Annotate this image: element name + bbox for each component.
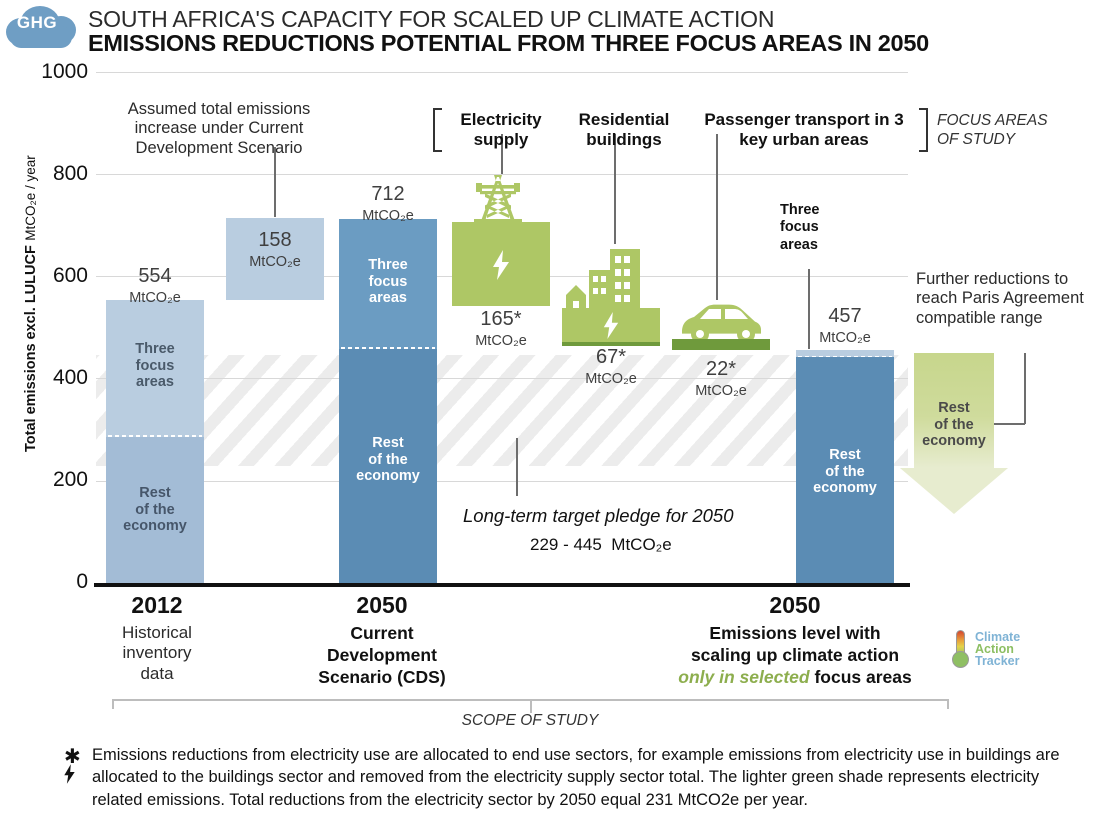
category-2050-action-line2: scaling up climate action: [691, 645, 899, 665]
pledge-range-band: [96, 355, 908, 466]
y-axis-label: Total emissions excl. LULUCF MtCO₂e / ye…: [22, 155, 40, 452]
bar-2050-action-unit: MtCO₂e: [796, 330, 894, 346]
further-reductions-annotation: Further reductions to reach Paris Agreem…: [916, 270, 1106, 328]
ghg-badge-label: GHG: [0, 13, 74, 33]
scope-bracket-left: [112, 699, 114, 709]
bar-2012-value: 554: [106, 265, 204, 288]
logo-line-tracker: Tracker: [975, 654, 1019, 668]
bar-2012-focus-label: Threefocusareas: [106, 341, 204, 391]
page-title: EMISSIONS REDUCTIONS POTENTIAL FROM THRE…: [88, 30, 929, 57]
car-icon: [676, 300, 766, 344]
y-tick-200: 200: [8, 468, 88, 492]
x-axis-line: [94, 583, 910, 587]
bar-2012-segment-focus: Threefocusareas: [106, 300, 204, 437]
focus-areas-bracket-left: [433, 108, 442, 152]
category-2050-action-line3-rest: focus areas: [810, 667, 912, 687]
leader-transport: [716, 134, 718, 300]
category-2050-action-line3-green: only in selected: [678, 667, 809, 687]
pledge-range: 229 - 445 MtCO₂e: [530, 535, 672, 555]
gridline-200: [96, 481, 908, 482]
focus-areas-of-study-label: FOCUS AREAS OF STUDY: [937, 112, 1067, 149]
bar-2050-cds: Threefocusareas Restof theeconomy: [339, 219, 437, 583]
category-2012-desc: Historicalinventorydata: [72, 623, 242, 684]
bar-cds-increase-unit: MtCO₂e: [226, 254, 324, 270]
further-reductions-leader-v: [1024, 353, 1026, 424]
bolt-icon-residential: [601, 312, 621, 339]
bar-reduction-transport-value: 22*: [672, 358, 770, 381]
further-reductions-arrow-body: Restof theeconomy: [914, 353, 994, 468]
bar-reduction-electricity-unit: MtCO₂e: [452, 333, 550, 349]
bar-reduction-residential: [562, 308, 660, 342]
bar-2050-action-rest-label: Restof theeconomy: [796, 447, 894, 497]
pledge-title: Long-term target pledge for 2050: [463, 505, 733, 527]
leader-pledge: [516, 438, 518, 496]
bar-2050-cds-unit: MtCO₂e: [339, 208, 437, 224]
focus-header-residential: Residential buildings: [565, 110, 683, 150]
bar-cds-increase-value: 158: [226, 229, 324, 252]
category-2050-action-year: 2050: [640, 592, 950, 619]
bar-reduction-residential-unit: MtCO₂e: [562, 371, 660, 387]
y-tick-400: 400: [8, 366, 88, 390]
further-reductions-arrow-head: [900, 468, 1008, 514]
bar-2050-action-value: 457: [796, 305, 894, 328]
bar-reduction-electricity: [452, 222, 550, 306]
focus-areas-bracket-right: [919, 108, 928, 152]
bar-2050-cds-focus-label: Threefocusareas: [339, 257, 437, 307]
focus-header-transport: Passenger transport in 3 key urban areas: [692, 110, 916, 150]
category-2050-action: 2050 Emissions level with scaling up cli…: [640, 592, 950, 689]
gridline-400: [96, 378, 908, 379]
bolt-icon-electricity: [491, 250, 511, 280]
climate-action-tracker-logo: Climate Action Tracker: [947, 630, 1067, 672]
pledge-range-unit: MtCO₂e: [611, 535, 671, 554]
cds-increase-annotation: Assumed total emissions increase under C…: [104, 100, 334, 158]
further-reductions-arrow-label: Restof theeconomy: [914, 400, 994, 450]
thermometer-bulb-icon: [952, 651, 969, 668]
bar-2050-cds-segment-focus: Threefocusareas: [339, 219, 437, 349]
three-focus-areas-callout: Threefocusareas: [780, 202, 872, 254]
footnote-bolt-marker: [63, 764, 76, 790]
footnote-text: Emissions reductions from electricity us…: [92, 744, 1082, 811]
focus-areas-of-study-line1: FOCUS AREAS: [937, 112, 1067, 131]
category-2050-action-line1: Emissions level with: [709, 623, 880, 643]
scope-of-study-label: SCOPE OF STUDY: [430, 712, 630, 730]
bar-2050-action: Restof theeconomy: [796, 350, 894, 583]
bar-reduction-transport: [672, 339, 770, 350]
category-2050-cds: 2050 CurrentDevelopmentScenario (CDS): [292, 592, 472, 689]
y-tick-800: 800: [8, 162, 88, 186]
leader-three-focus-callout: [808, 269, 810, 349]
buildings-icon: [562, 245, 650, 310]
category-2012: 2012 Historicalinventorydata: [72, 592, 242, 684]
bar-2050-cds-rest-label: Restof theeconomy: [339, 435, 437, 485]
bar-reduction-residential-value: 67*: [562, 346, 660, 369]
bar-2012: Threefocusareas Restof theeconomy: [106, 300, 204, 583]
bar-2012-segment-rest: Restof theeconomy: [106, 437, 204, 583]
further-reductions-leader-h: [994, 423, 1025, 425]
focus-header-electricity: Electricity supply: [442, 110, 560, 150]
y-tick-600: 600: [8, 264, 88, 288]
bar-2050-cds-segment-rest: Restof theeconomy: [339, 349, 437, 583]
bar-reduction-electricity-value: 165*: [452, 308, 550, 331]
bar-reduction-transport-unit: MtCO₂e: [672, 383, 770, 399]
bar-2012-rest-label: Restof theeconomy: [106, 485, 204, 535]
bar-2050-cds-value: 712: [339, 183, 437, 206]
bar-2012-unit: MtCO₂e: [106, 290, 204, 306]
category-2050-cds-year: 2050: [292, 592, 472, 619]
transmission-tower-icon: [464, 175, 532, 223]
category-2050-cds-desc: CurrentDevelopmentScenario (CDS): [292, 623, 472, 689]
scope-bracket-right: [947, 699, 949, 709]
scope-bracket-stem: [530, 699, 532, 713]
bar-2050-action-segment-rest: Restof theeconomy: [796, 357, 894, 583]
focus-areas-of-study-line2: OF STUDY: [937, 131, 1067, 150]
category-2050-action-desc: Emissions level with scaling up climate …: [640, 623, 950, 689]
category-2012-year: 2012: [72, 592, 242, 619]
gridline-1000: [96, 72, 908, 73]
y-tick-0: 0: [8, 570, 88, 594]
pledge-range-value: 229 - 445: [530, 535, 602, 554]
subtitle: SOUTH AFRICA'S CAPACITY FOR SCALED UP CL…: [88, 6, 774, 33]
y-tick-1000: 1000: [8, 60, 88, 84]
leader-residential: [614, 134, 616, 244]
